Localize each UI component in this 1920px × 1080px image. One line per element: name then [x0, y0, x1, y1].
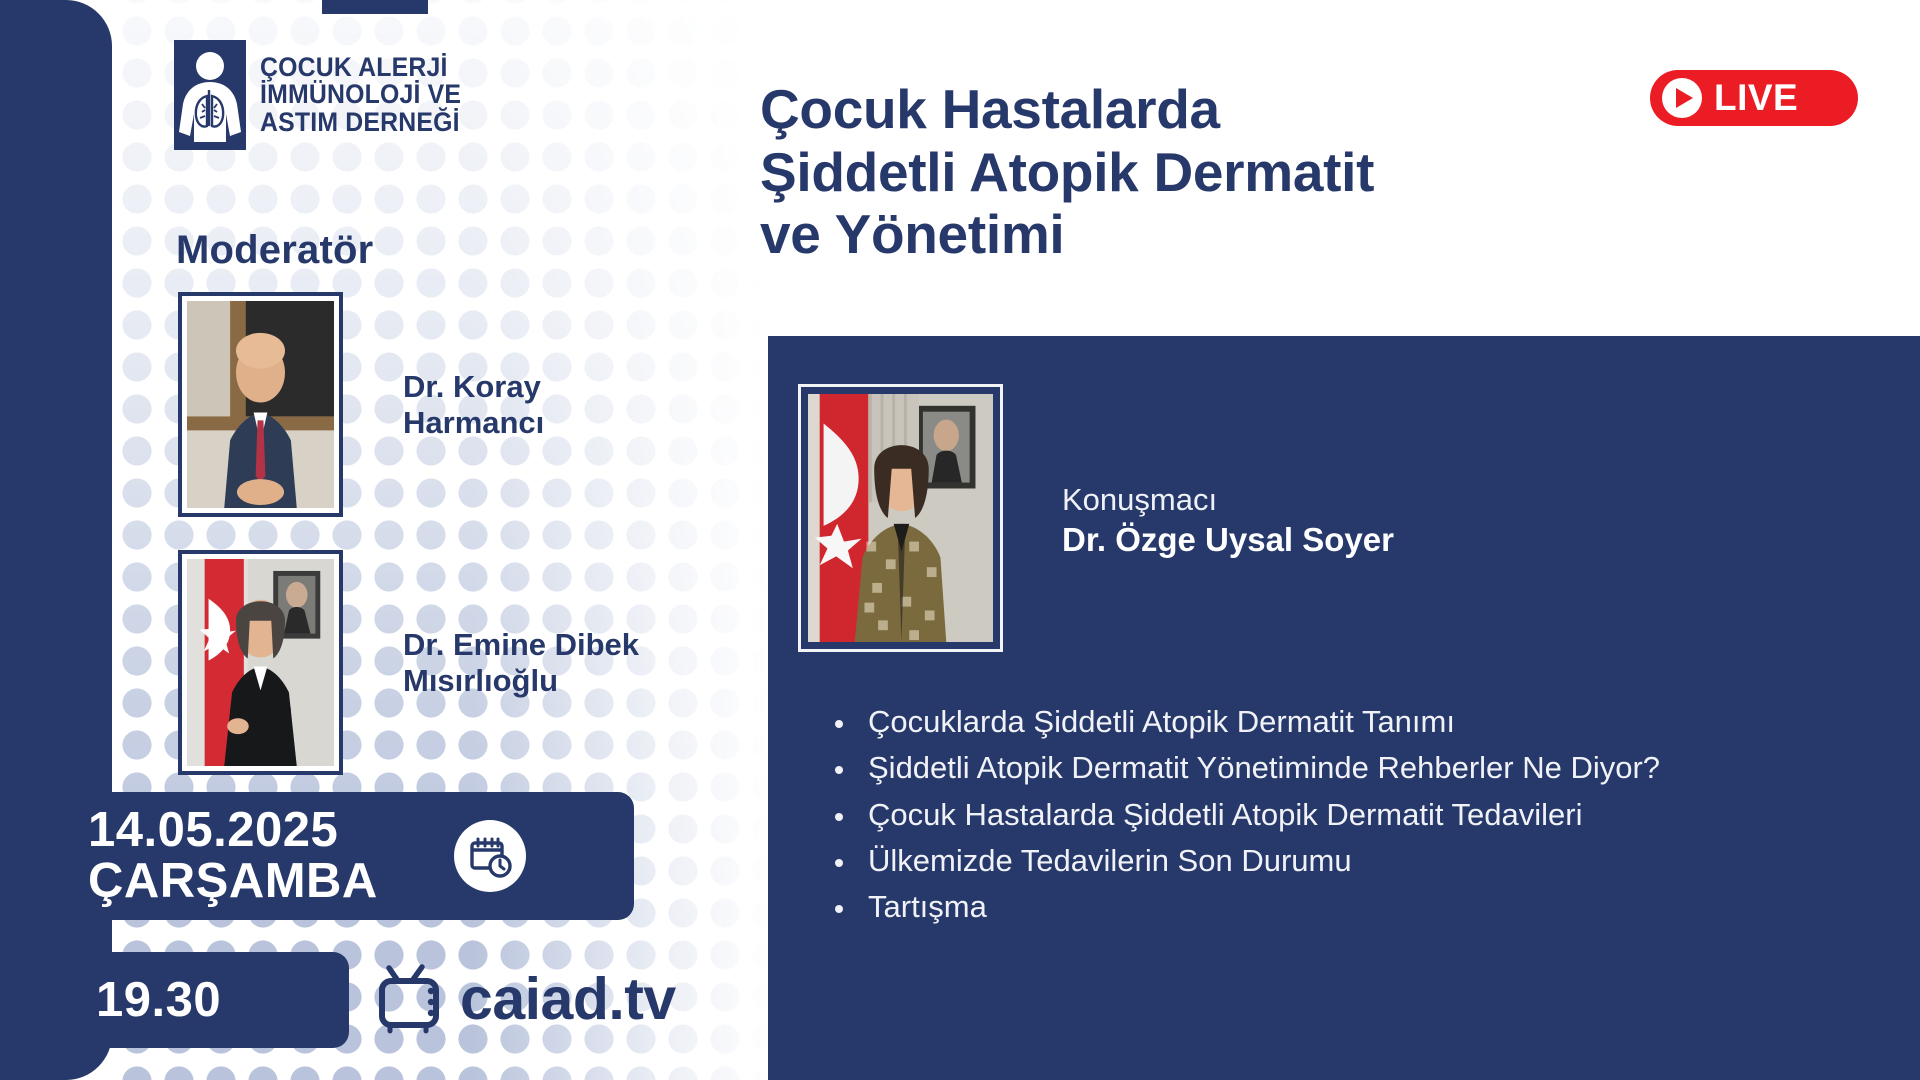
speaker-meta: Konuşmacı Dr. Özge Uysal Soyer	[1062, 482, 1394, 560]
moderator-name-2-line2: Mısırlıoğlu	[403, 663, 703, 698]
event-day: ÇARŞAMBA	[88, 856, 378, 907]
live-label: LIVE	[1714, 77, 1798, 119]
page-title: Çocuk Hastalarda Şiddetli Atopik Dermati…	[760, 78, 1620, 266]
live-badge[interactable]: LIVE	[1650, 70, 1858, 126]
moderator-photo-1	[178, 292, 343, 517]
list-item: Çocuklarda Şiddetli Atopik Dermatit Tanı…	[858, 702, 1880, 742]
tv-icon	[378, 963, 454, 1035]
moderator-photo-2	[178, 550, 343, 775]
event-date: 14.05.2025	[88, 805, 378, 856]
logo-line-1: ÇOCUK ALERJİ	[260, 54, 461, 82]
channel-brand[interactable]: caiad.tv	[378, 963, 676, 1035]
logo-line-3: ASTIM DERNEĞİ	[260, 109, 461, 137]
moderator-card-1: Dr. Koray Harmancı	[178, 292, 703, 517]
top-navy-tab-decoration	[322, 0, 428, 14]
moderator-name-1-line2: Harmancı	[403, 405, 703, 440]
title-line-1: Çocuk Hastalarda	[760, 78, 1620, 141]
time-badge: 19.30	[74, 952, 349, 1048]
logo-line-2: İMMÜNOLOJİ VE	[260, 81, 461, 109]
association-logo: ÇOCUK ALERJİ İMMÜNOLOJİ VE ASTIM DERNEĞİ	[174, 40, 479, 150]
moderator-card-2: Dr. Emine Dibek Mısırlıoğlu	[178, 550, 703, 775]
date-badge: 14.05.2025 ÇARŞAMBA	[74, 792, 634, 920]
list-item: Tartışma	[858, 887, 1880, 927]
moderator-name-1-line1: Dr. Koray	[403, 369, 703, 404]
speaker-photo	[798, 384, 1003, 652]
title-line-3: ve Yönetimi	[760, 203, 1620, 266]
moderator-label: Moderatör	[176, 228, 373, 273]
poster-canvas: ÇOCUK ALERJİ İMMÜNOLOJİ VE ASTIM DERNEĞİ…	[0, 0, 1920, 1080]
play-icon	[1662, 78, 1702, 118]
list-item: Ülkemizde Tedavilerin Son Durumu	[858, 841, 1880, 881]
calendar-clock-icon	[454, 820, 526, 892]
moderator-name-2-line1: Dr. Emine Dibek	[403, 627, 703, 662]
person-lungs-icon	[174, 40, 246, 150]
list-item: Şiddetli Atopik Dermatit Yönetiminde Reh…	[858, 748, 1880, 788]
title-line-2: Şiddetli Atopik Dermatit	[760, 141, 1620, 204]
speaker-role: Konuşmacı	[1062, 482, 1394, 519]
channel-name: caiad.tv	[460, 965, 676, 1033]
speaker-name: Dr. Özge Uysal Soyer	[1062, 521, 1394, 560]
list-item: Çocuk Hastalarda Şiddetli Atopik Dermati…	[858, 795, 1880, 835]
topics-list: Çocuklarda Şiddetli Atopik Dermatit Tanı…	[820, 702, 1880, 933]
event-time: 19.30	[96, 972, 221, 1028]
